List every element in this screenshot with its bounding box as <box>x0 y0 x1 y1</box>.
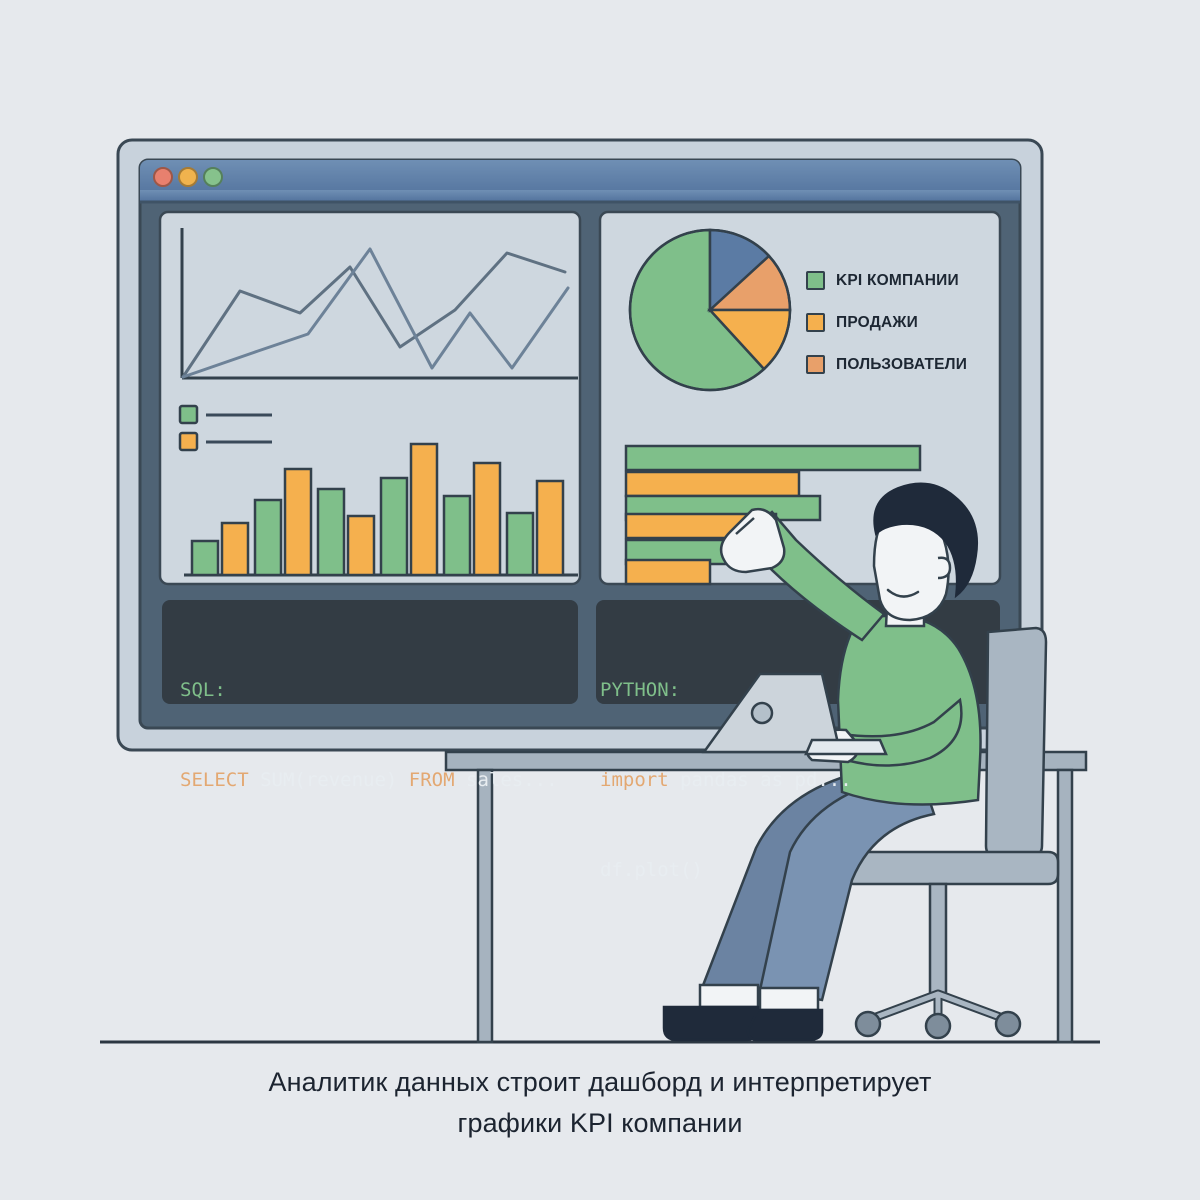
sock-front <box>760 988 818 1010</box>
minimize-icon[interactable] <box>179 168 197 186</box>
bar-amber-5 <box>474 463 500 575</box>
sql-header: SQL: <box>180 679 226 701</box>
bar-legend-swatch-amber <box>180 433 197 450</box>
pie-chart <box>630 230 790 390</box>
bar-amber-3 <box>348 516 374 575</box>
bar-green-6 <box>507 513 533 575</box>
pie-legend-swatch-0 <box>806 271 825 290</box>
sql-body-2: sales... <box>455 769 558 791</box>
bar-amber-1 <box>222 523 248 575</box>
pie-legend-label-2: ПОЛЬЗОВАТЕЛИ <box>836 356 967 374</box>
sql-body-1: SUM(revenue) <box>249 769 409 791</box>
pie-legend-item-1[interactable]: ПРОДАЖИ <box>806 312 996 333</box>
bar-green-2 <box>255 500 281 575</box>
bar-amber-6 <box>537 481 563 575</box>
sql-keyword-from: FROM <box>409 769 455 791</box>
sql-code-text: SQL: SELECT SUM(revenue) FROM sales... <box>180 615 558 855</box>
scene-svg <box>0 0 1200 1200</box>
pie-legend-label-0: KPI КОМПАНИИ <box>836 272 959 290</box>
pie-legend-label-1: ПРОДАЖИ <box>836 314 918 332</box>
bar-green-1 <box>192 541 218 575</box>
chair-wheel-right <box>996 1012 1020 1036</box>
ear <box>938 558 950 578</box>
shoe-front <box>748 1010 822 1040</box>
desk-leg-right <box>1058 770 1072 1042</box>
titlebar-filler <box>140 190 1020 202</box>
sql-code-line-2: SELECT SUM(revenue) FROM sales... <box>180 765 558 795</box>
chair-wheel-center <box>926 1014 950 1038</box>
chair-post <box>930 884 946 994</box>
sock-back <box>700 985 758 1007</box>
pie-legend: KPI КОМПАНИИ ПРОДАЖИ ПОЛЬЗОВАТЕЛИ <box>806 270 996 396</box>
illustration-stage: KPI КОМПАНИИ ПРОДАЖИ ПОЛЬЗОВАТЕЛИ SQL: S… <box>0 0 1200 1200</box>
caption-line-1: Аналитик данных строит дашборд и интерпр… <box>0 1062 1200 1103</box>
pie-legend-swatch-1 <box>806 313 825 332</box>
bar-green-4 <box>381 478 407 575</box>
bar-green-3 <box>318 489 344 575</box>
shoe-back <box>664 1007 758 1040</box>
bar-amber-2 <box>285 469 311 575</box>
pie-legend-item-0[interactable]: KPI КОМПАНИИ <box>806 270 996 291</box>
python-code-line-3: df.plot() <box>600 855 852 885</box>
pie-legend-swatch-2 <box>806 355 825 374</box>
python-code-text: PYTHON: import pandas as pd... df.plot() <box>600 615 852 945</box>
python-line-2: df.plot() <box>600 859 703 881</box>
maximize-icon[interactable] <box>204 168 222 186</box>
pie-legend-item-2[interactable]: ПОЛЬЗОВАТЕЛИ <box>806 354 996 375</box>
bar-amber-4 <box>411 444 437 575</box>
python-code-line-1: PYTHON: <box>600 675 852 705</box>
sql-keyword-select: SELECT <box>180 769 249 791</box>
python-keyword-import: import <box>600 769 669 791</box>
python-body-1: pandas as pd... <box>669 769 852 791</box>
python-code-line-2: import pandas as pd... <box>600 765 852 795</box>
hbar-amber-1 <box>626 472 799 496</box>
sql-code-line-1: SQL: <box>180 675 558 705</box>
bar-green-5 <box>444 496 470 575</box>
hbar-green-1 <box>626 446 920 470</box>
close-icon[interactable] <box>154 168 172 186</box>
hbar-amber-3 <box>626 560 710 584</box>
bar-legend-swatch-green <box>180 406 197 423</box>
caption-line-2: графики KPI компании <box>0 1103 1200 1144</box>
caption: Аналитик данных строит дашборд и интерпр… <box>0 1062 1200 1144</box>
python-header: PYTHON: <box>600 679 680 701</box>
chair-wheel-left <box>856 1012 880 1036</box>
chair-seat <box>844 852 1058 884</box>
chair-backrest <box>986 628 1046 856</box>
